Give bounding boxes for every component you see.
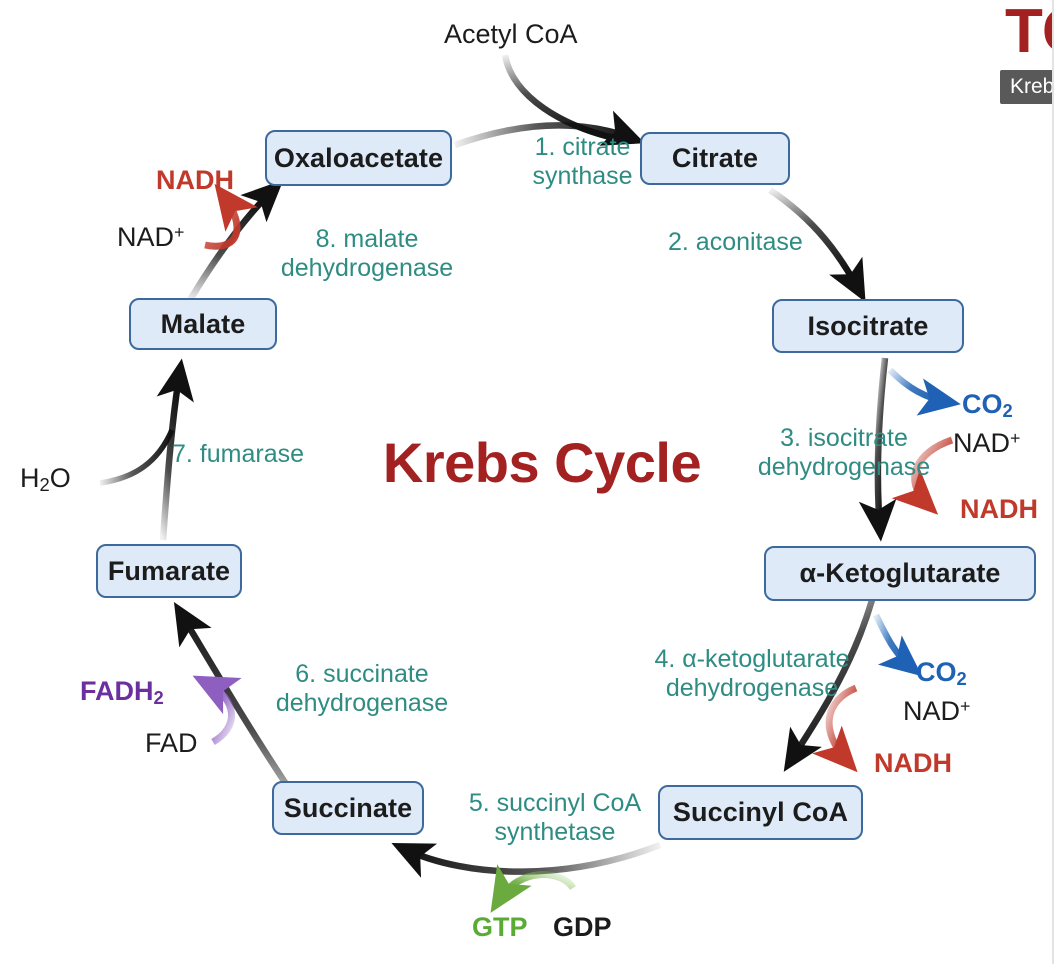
label-nadh-step8: NADH: [156, 165, 234, 196]
arrow-nad-to-nadh-step8: [205, 195, 237, 246]
enzyme-step1-line2: synthase: [495, 162, 670, 191]
tooltip-krebs: Krebs: [1000, 70, 1054, 104]
krebs-cycle-diagram: TC Krebs Krebs Cycle: [0, 0, 1054, 964]
label-nad-plus-step3: NAD+: [953, 428, 1020, 459]
arrow-co2-step3: [890, 370, 948, 402]
node-fumarate[interactable]: Fumarate: [96, 544, 242, 598]
enzyme-label-step8: 8. malate dehydrogenase: [258, 225, 476, 283]
label-water: H2O: [20, 463, 71, 495]
enzyme-step3-line1: 3. isocitrate: [746, 424, 942, 453]
node-malate[interactable]: Malate: [129, 298, 277, 350]
arrow-water-in: [100, 430, 172, 483]
label-co2-step4: CO2: [916, 657, 967, 689]
label-fadh2: FADH2: [80, 676, 164, 708]
enzyme-label-step1: 1. citrate synthase: [495, 133, 670, 191]
arrow-fad-to-fadh2: [205, 682, 232, 742]
label-gtp: GTP: [472, 912, 528, 943]
arrow-gdp-to-gtp: [498, 874, 573, 901]
label-nadh-step3: NADH: [960, 494, 1038, 525]
enzyme-step1-line1: 1. citrate: [495, 133, 670, 162]
enzyme-step2-line1: 2. aconitase: [668, 228, 803, 257]
enzyme-step6-line2: dehydrogenase: [254, 689, 470, 718]
diagram-title: Krebs Cycle: [352, 430, 732, 495]
arrow-co2-step4: [876, 615, 912, 668]
label-co2-step3: CO2: [962, 389, 1013, 421]
node-succinate[interactable]: Succinate: [272, 781, 424, 835]
arrow-succinylcoa-to-succinate: [402, 845, 660, 872]
arrow-acetylcoa-in: [505, 55, 628, 141]
node-oxaloacetate[interactable]: Oxaloacetate: [265, 130, 452, 186]
label-gdp: GDP: [553, 912, 612, 943]
enzyme-label-step2: 2. aconitase: [668, 228, 803, 257]
enzyme-label-step7: 7. fumarase: [172, 440, 304, 469]
enzyme-step8-line1: 8. malate: [258, 225, 476, 254]
enzyme-step5-line1: 5. succinyl CoA: [455, 789, 655, 818]
label-nad-plus-step4: NAD+: [903, 696, 970, 727]
enzyme-label-step4: 4. α-ketoglutarate dehydrogenase: [640, 645, 864, 703]
enzyme-step4-line1: 4. α-ketoglutarate: [640, 645, 864, 674]
enzyme-step6-line1: 6. succinate: [254, 660, 470, 689]
enzyme-step8-line2: dehydrogenase: [258, 254, 476, 283]
label-fad: FAD: [145, 728, 198, 759]
enzyme-step5-line2: synthetase: [455, 818, 655, 847]
label-acetyl-coa: Acetyl CoA: [444, 19, 578, 50]
node-alpha-ketoglutarate[interactable]: α-Ketoglutarate: [764, 546, 1036, 601]
enzyme-label-step5: 5. succinyl CoA synthetase: [455, 789, 655, 847]
label-nadh-step4: NADH: [874, 748, 952, 779]
enzyme-step4-line2: dehydrogenase: [640, 674, 864, 703]
node-isocitrate[interactable]: Isocitrate: [772, 299, 964, 353]
page-title-clipped: TC: [1005, 0, 1054, 67]
node-succinyl-coa[interactable]: Succinyl CoA: [658, 785, 863, 840]
label-nad-plus-step8: NAD+: [117, 222, 184, 253]
enzyme-label-step3: 3. isocitrate dehydrogenase: [746, 424, 942, 482]
enzyme-label-step6: 6. succinate dehydrogenase: [254, 660, 470, 718]
enzyme-step7-line1: 7. fumarase: [172, 440, 304, 469]
enzyme-step3-line2: dehydrogenase: [746, 453, 942, 482]
